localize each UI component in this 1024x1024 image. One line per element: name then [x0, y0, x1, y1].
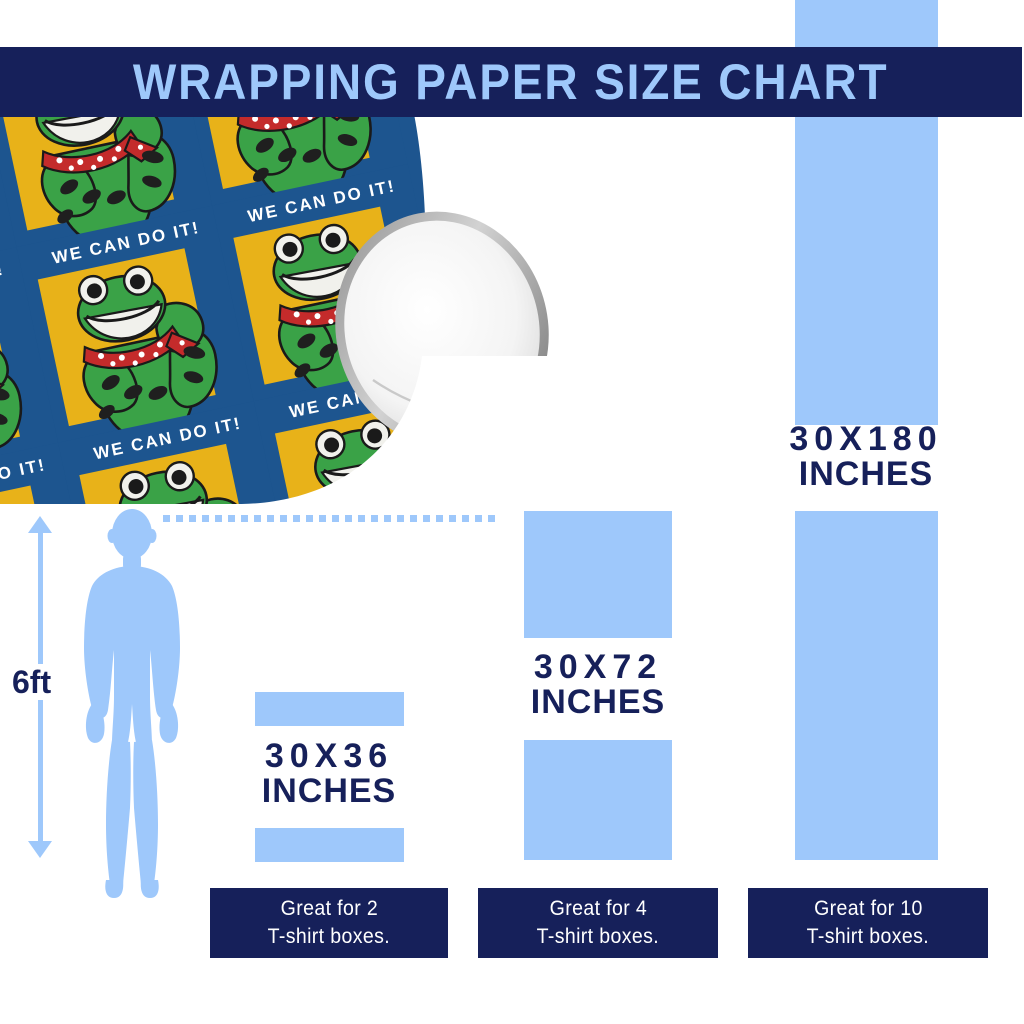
height-label: 6ft: [8, 664, 55, 700]
height-guide-dotted-line: [163, 515, 499, 522]
caption-box-large: Great for 10 T-shirt boxes.: [748, 888, 988, 958]
page-title: WRAPPING PAPER SIZE CHART: [133, 57, 889, 107]
caption-medium-line2: T-shirt boxes.: [537, 923, 659, 951]
arrow-down-icon: [28, 841, 52, 858]
wrapping-paper-size-chart: WE CAN DO IT!: [0, 0, 1024, 1024]
size-label-large: 30X180 INCHES: [766, 422, 966, 491]
caption-large-line2: T-shirt boxes.: [807, 923, 929, 951]
caption-large-line1: Great for 10: [814, 895, 923, 923]
size-bar-small-bottom: [255, 828, 404, 862]
caption-box-medium: Great for 4 T-shirt boxes.: [478, 888, 718, 958]
size-units-medium: INCHES: [498, 685, 698, 720]
caption-small-line2: T-shirt boxes.: [268, 923, 390, 951]
size-label-medium: 30X72 INCHES: [498, 650, 698, 719]
caption-small-line1: Great for 2: [280, 895, 377, 923]
header-banner: WRAPPING PAPER SIZE CHART: [0, 47, 1022, 117]
size-dimensions-large: 30X180: [766, 422, 966, 457]
size-bar-medium-bottom: [524, 740, 672, 860]
size-dimensions-small: 30X36: [229, 739, 429, 774]
caption-box-small: Great for 2 T-shirt boxes.: [210, 888, 448, 958]
size-label-small: 30X36 INCHES: [229, 739, 429, 808]
human-silhouette-icon: [62, 508, 202, 900]
size-units-small: INCHES: [229, 774, 429, 809]
caption-medium-line1: Great for 4: [549, 895, 646, 923]
size-bar-medium-top: [524, 511, 672, 638]
size-bar-small-top: [255, 692, 404, 726]
size-bar-large-bottom: [795, 511, 938, 860]
wrapping-paper-roll-image: WE CAN DO IT!: [0, 104, 562, 504]
size-units-large: INCHES: [766, 457, 966, 492]
size-dimensions-medium: 30X72: [498, 650, 698, 685]
